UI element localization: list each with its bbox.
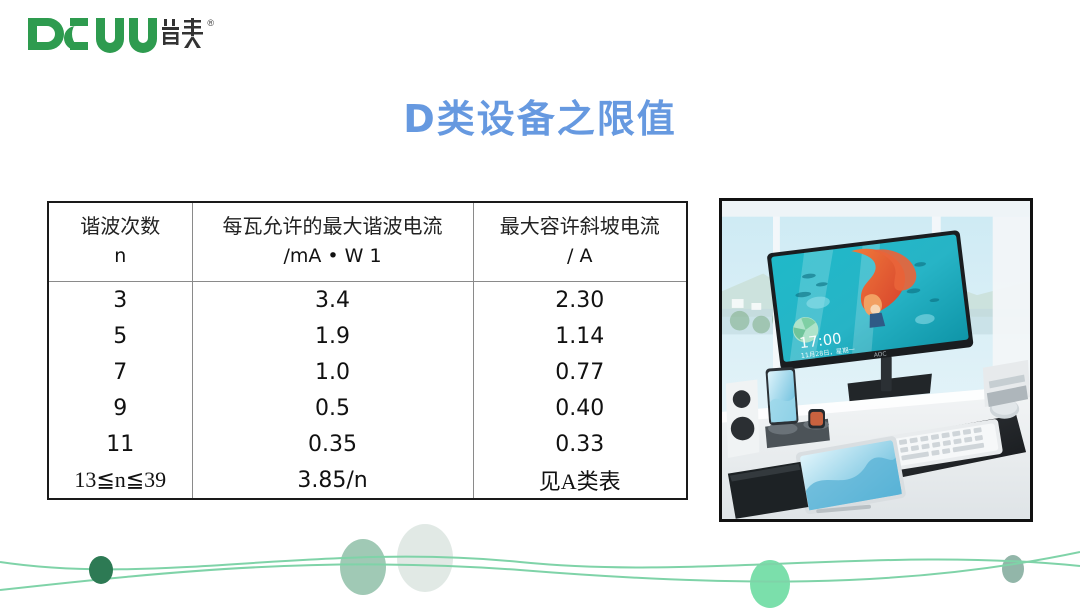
decorative-circle xyxy=(340,539,386,595)
header-cell-harmonic-order: 谐波次数 n xyxy=(48,202,192,282)
cell-max-current: 1.14 xyxy=(473,318,687,354)
cell-current-per-watt: 0.35 xyxy=(192,426,473,462)
cell-harmonic-order: 13≦n≦39 xyxy=(48,462,192,499)
decorative-circle xyxy=(397,524,453,592)
cell-max-current: 0.40 xyxy=(473,390,687,426)
harmonic-limits-table: 谐波次数 n 每瓦允许的最大谐波电流 /mA • W 1 最大容许斜坡电流 / … xyxy=(47,201,688,500)
header-cell-current-per-watt: 每瓦允许的最大谐波电流 /mA • W 1 xyxy=(192,202,473,282)
footer-decoration xyxy=(0,518,1080,608)
cell-harmonic-order: 7 xyxy=(48,354,192,390)
table-row: 5 1.9 1.14 xyxy=(48,318,687,354)
table-row: 13≦n≦39 3.85/n 见A类表 xyxy=(48,462,687,499)
workspace-photo: 17:00 11月28日，星期一 AOC xyxy=(719,198,1033,522)
decorative-wave xyxy=(0,552,1080,590)
table-header-row: 谐波次数 n 每瓦允许的最大谐波电流 /mA • W 1 最大容许斜坡电流 / … xyxy=(48,202,687,282)
cell-max-current: 0.77 xyxy=(473,354,687,390)
cell-harmonic-order: 3 xyxy=(48,282,192,319)
table-row: 7 1.0 0.77 xyxy=(48,354,687,390)
cell-max-current: 0.33 xyxy=(473,426,687,462)
decorative-circle xyxy=(1002,555,1024,583)
decorative-circle xyxy=(89,556,113,584)
decorative-wave xyxy=(0,557,1080,570)
logo-mark xyxy=(26,14,206,54)
header-label-cn: 每瓦允许的最大谐波电流 xyxy=(193,214,473,241)
workspace-photo-illustration: 17:00 11月28日，星期一 AOC xyxy=(722,201,1030,519)
cell-current-per-watt: 1.9 xyxy=(192,318,473,354)
header-cell-max-current: 最大容许斜坡电流 / A xyxy=(473,202,687,282)
cell-max-current: 见A类表 xyxy=(473,462,687,499)
cell-current-per-watt: 3.4 xyxy=(192,282,473,319)
header-label-cn: 最大容许斜坡电流 xyxy=(474,214,687,241)
page-title: D类设备之限值 xyxy=(0,88,1080,143)
brand-logo: ® xyxy=(26,12,216,56)
cell-current-per-watt: 0.5 xyxy=(192,390,473,426)
registered-trademark-icon: ® xyxy=(207,18,214,28)
table-row: 11 0.35 0.33 xyxy=(48,426,687,462)
header-label-unit: /mA • W 1 xyxy=(193,244,473,270)
cell-current-per-watt: 1.0 xyxy=(192,354,473,390)
header-label-cn: 谐波次数 xyxy=(49,214,192,241)
header-label-unit: n xyxy=(49,244,192,270)
cell-max-current: 2.30 xyxy=(473,282,687,319)
header-label-unit: / A xyxy=(474,244,687,270)
table-row: 3 3.4 2.30 xyxy=(48,282,687,319)
cell-harmonic-order: 5 xyxy=(48,318,192,354)
cell-harmonic-order: 9 xyxy=(48,390,192,426)
decorative-circle xyxy=(750,560,790,608)
cell-harmonic-order: 11 xyxy=(48,426,192,462)
table-row: 9 0.5 0.40 xyxy=(48,390,687,426)
cell-current-per-watt: 3.85/n xyxy=(192,462,473,499)
